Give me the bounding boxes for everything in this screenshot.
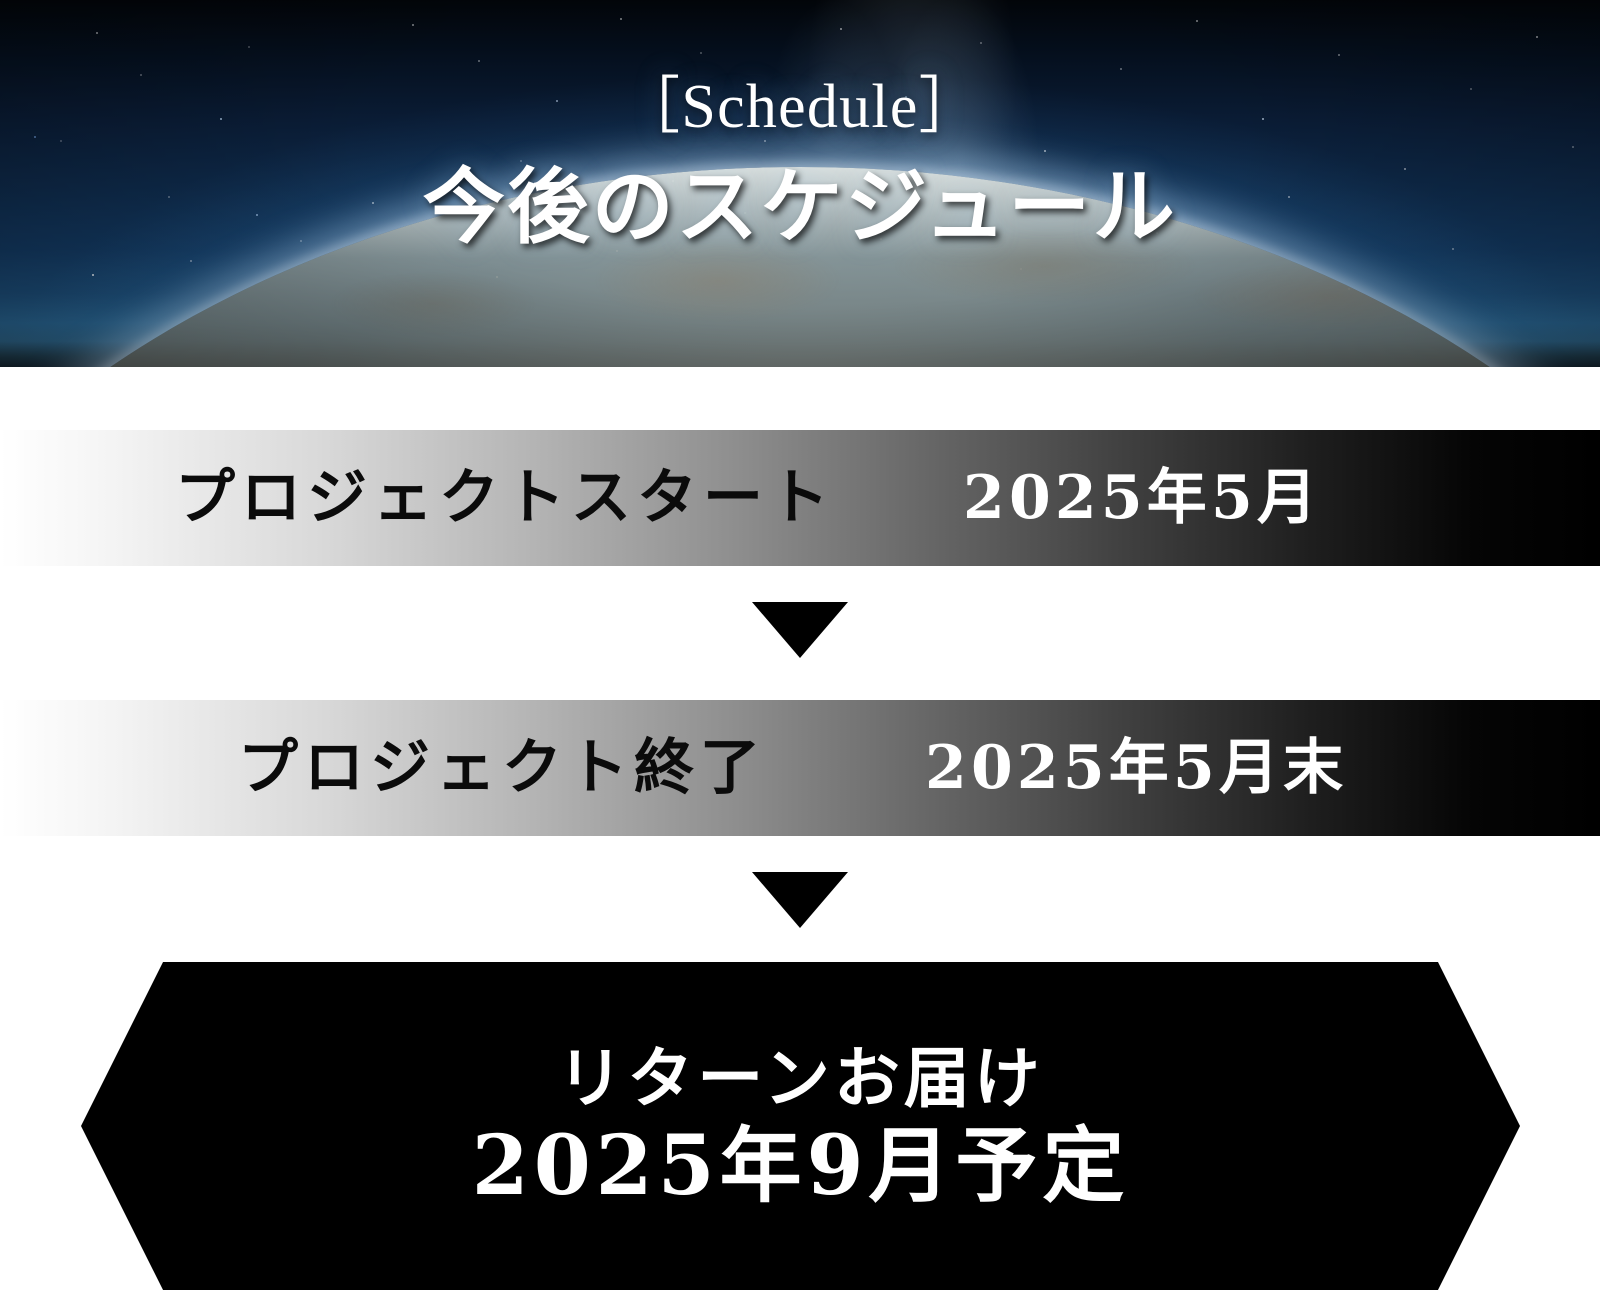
hero-content: ［Schedule］ 今後のスケジュール	[0, 0, 1600, 367]
banner-line-1: リターンお届け	[557, 1045, 1043, 1111]
schedule-row-2: プロジェクト終了 2025年5月末	[0, 700, 1600, 836]
banner-line-2: 2025年9月予定	[472, 1125, 1130, 1207]
arrow-down-icon	[752, 872, 848, 928]
schedule-row-date: 2025年5月	[963, 468, 1321, 528]
return-delivery-banner: リターンお届け 2025年9月予定	[81, 962, 1520, 1290]
page-title: 今後のスケジュール	[423, 164, 1177, 250]
banner-content: リターンお届け 2025年9月予定	[81, 962, 1520, 1290]
hero-banner: ［Schedule］ 今後のスケジュール	[0, 0, 1600, 367]
schedule-row-label: プロジェクト終了	[238, 738, 766, 798]
schedule-row-1: プロジェクトスタート 2025年5月	[0, 430, 1600, 566]
schedule-row-label: プロジェクトスタート	[175, 468, 835, 528]
schedule-row-date: 2025年5月末	[925, 738, 1347, 798]
schedule-page: ［Schedule］ 今後のスケジュール プロジェクトスタート 2025年5月 …	[0, 0, 1600, 1312]
arrow-down-icon	[752, 602, 848, 658]
hero-eyebrow: ［Schedule］	[618, 76, 982, 138]
